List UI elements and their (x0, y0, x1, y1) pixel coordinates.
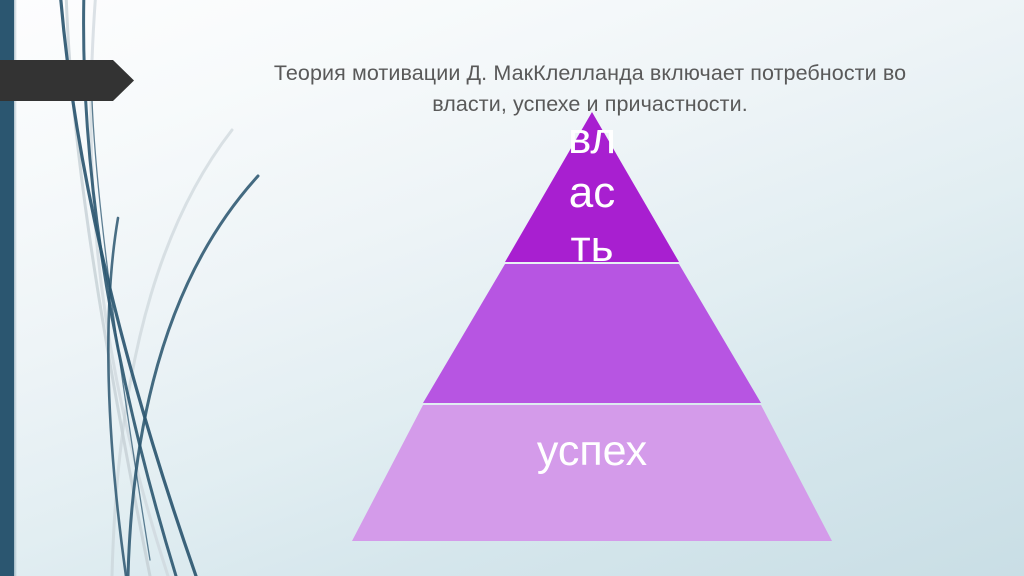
pyramid-tier-middle[interactable] (423, 264, 761, 403)
arrow-banner-shape (0, 60, 134, 101)
pyramid-tier-top[interactable] (505, 112, 679, 262)
slide-canvas: Теория мотивации Д. МакКлелланда включае… (0, 0, 1024, 576)
pyramid-diagram: власть успех причастность (340, 112, 844, 548)
pyramid-svg (340, 112, 844, 548)
slide-title: Теория мотивации Д. МакКлелланда включае… (240, 58, 940, 120)
pyramid-tier-bottom-label: причастность (340, 567, 844, 576)
pyramid-tier-bottom[interactable] (352, 405, 832, 541)
